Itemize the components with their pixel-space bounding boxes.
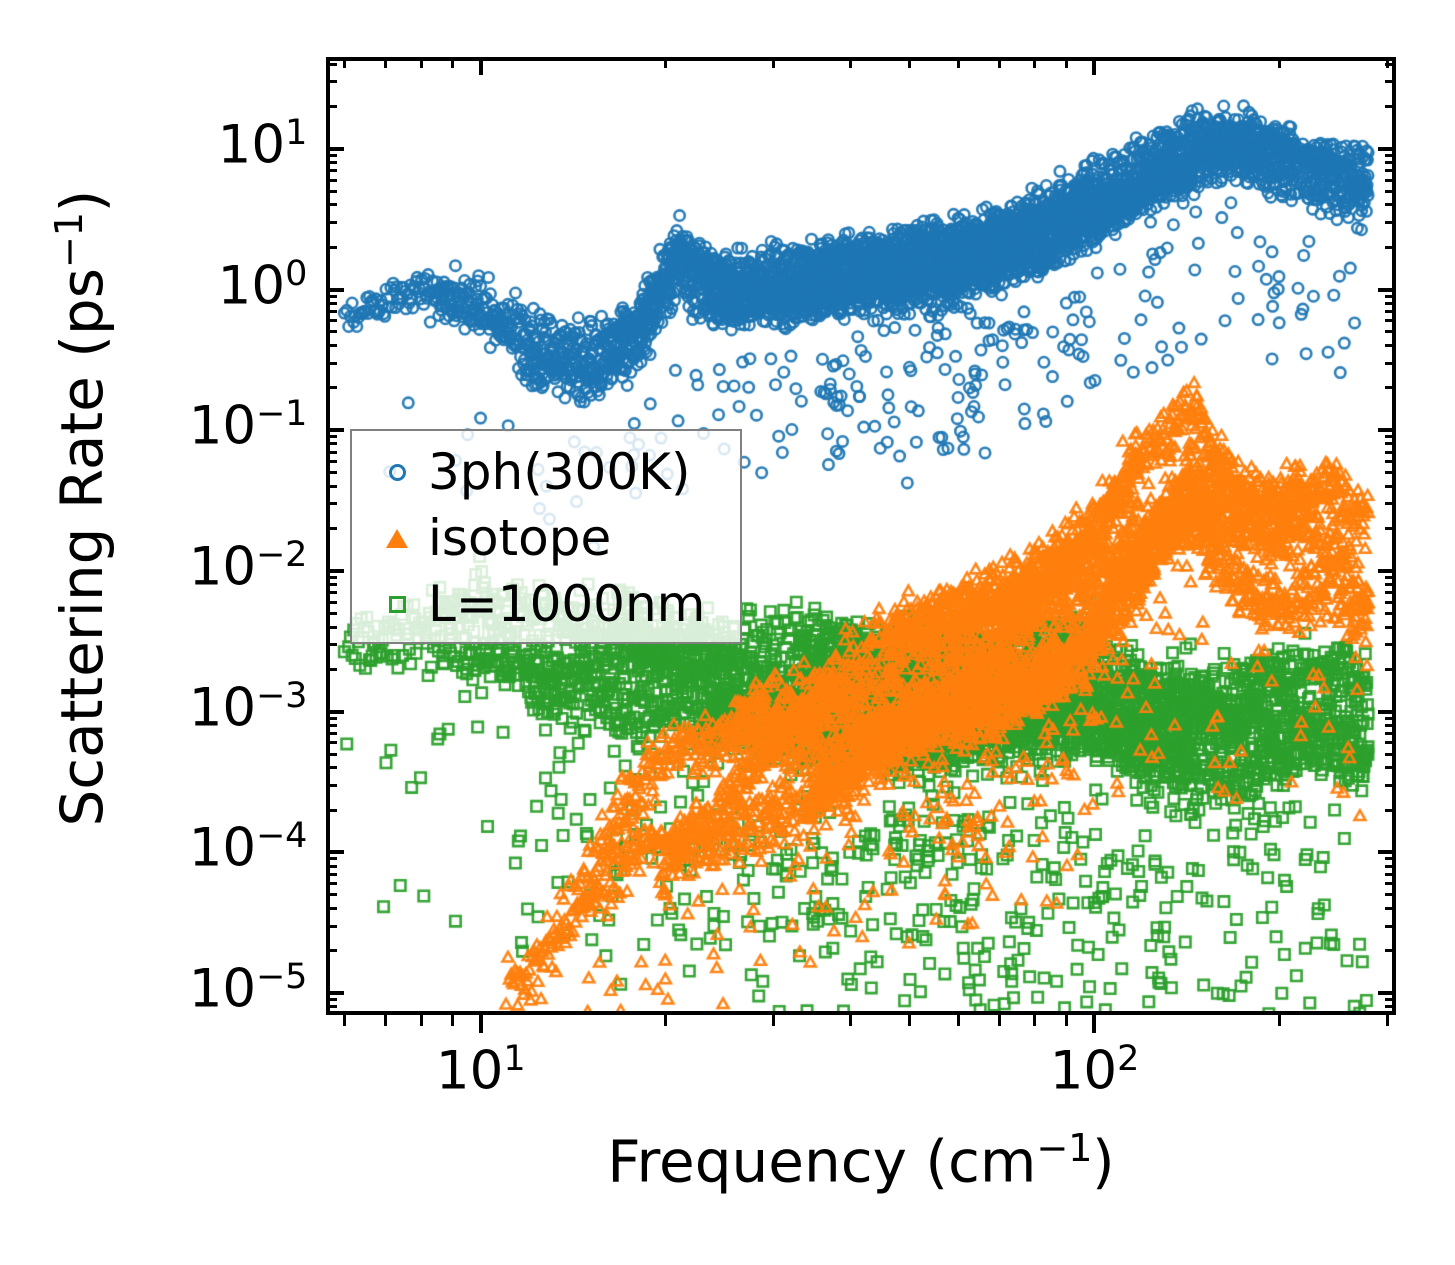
- y-minor-tick-right: [1385, 442, 1396, 445]
- legend-marker-square-icon: [366, 596, 428, 613]
- legend-item-isotope[interactable]: isotope: [352, 505, 740, 571]
- y-minor-tick-right: [1385, 998, 1396, 1001]
- y-minor-tick-right: [1385, 893, 1396, 896]
- y-minor-tick: [326, 203, 337, 206]
- y-minor-tick-right: [1385, 246, 1396, 249]
- x-minor-tick-top: [772, 57, 775, 68]
- y-minor-tick: [326, 741, 337, 744]
- y-minor-tick-right: [1385, 907, 1396, 910]
- x-minor-tick: [998, 1015, 1001, 1026]
- x-minor-tick-top: [1278, 57, 1281, 68]
- y-minor-tick: [326, 1005, 337, 1008]
- legend-box: 3ph(300K) isotope L=1000nm: [350, 429, 742, 644]
- y-minor-tick-right: [1385, 310, 1396, 313]
- x-axis-title-text: Frequency (cm: [607, 1127, 1036, 1195]
- y-tick-label: 10−3: [189, 679, 307, 735]
- x-minor-tick-top: [664, 57, 667, 68]
- y-major-tick: [326, 710, 344, 714]
- y-minor-tick: [326, 612, 337, 615]
- y-minor-tick-right: [1385, 583, 1396, 586]
- y-minor-tick: [326, 998, 337, 1001]
- x-minor-tick-top: [451, 57, 454, 68]
- y-minor-tick: [326, 591, 337, 594]
- y-minor-tick-right: [1385, 753, 1396, 756]
- y-minor-tick-right: [1385, 601, 1396, 604]
- x-minor-tick-top: [849, 57, 852, 68]
- x-major-tick-top: [479, 57, 483, 75]
- y-tick-mantissa: 10: [189, 396, 256, 457]
- y-axis-title-exponent: −1: [47, 212, 92, 268]
- scatter-plot-figure: Scattering Rate (ps−1) Frequency (cm−1) …: [0, 0, 1455, 1265]
- y-minor-tick-right: [1385, 612, 1396, 615]
- y-tick-mantissa: 10: [189, 959, 256, 1020]
- x-minor-tick: [908, 1015, 911, 1026]
- x-tick-mantissa: 10: [1050, 1041, 1117, 1102]
- y-tick-label: 101: [218, 116, 307, 172]
- x-minor-tick: [420, 1015, 423, 1026]
- y-tick-mantissa: 10: [189, 537, 256, 598]
- x-axis-title: Frequency (cm−1): [326, 1130, 1396, 1190]
- y-minor-tick: [326, 319, 337, 322]
- x-axis-title-exponent: −1: [1036, 1126, 1092, 1171]
- y-minor-tick-right: [1385, 295, 1396, 298]
- y-minor-tick: [326, 717, 337, 720]
- y-major-tick-right: [1378, 147, 1396, 151]
- y-tick-mantissa: 10: [218, 115, 285, 176]
- y-minor-tick: [326, 221, 337, 224]
- y-minor-tick: [326, 344, 337, 347]
- y-tick-exponent: −3: [256, 676, 307, 716]
- y-minor-tick-right: [1385, 221, 1396, 224]
- y-tick-label: 10−5: [189, 960, 307, 1016]
- y-minor-tick-right: [1385, 784, 1396, 787]
- y-minor-tick: [326, 626, 337, 629]
- x-minor-tick-top: [384, 57, 387, 68]
- y-major-tick: [326, 288, 344, 292]
- y-minor-tick-right: [1385, 169, 1396, 172]
- y-minor-tick: [326, 310, 337, 313]
- y-major-tick: [326, 850, 344, 854]
- y-minor-tick-right: [1385, 724, 1396, 727]
- y-minor-tick: [326, 527, 337, 530]
- y-minor-tick-right: [1385, 809, 1396, 812]
- y-minor-tick: [326, 873, 337, 876]
- y-minor-tick: [326, 865, 337, 868]
- y-minor-tick-right: [1385, 319, 1396, 322]
- y-tick-label: 10−1: [189, 397, 307, 453]
- y-minor-tick-right: [1385, 330, 1396, 333]
- legend-label-boundary: L=1000nm: [428, 579, 705, 629]
- y-tick-mantissa: 10: [189, 818, 256, 879]
- x-minor-tick-top: [1065, 57, 1068, 68]
- y-minor-tick-right: [1385, 80, 1396, 83]
- x-tick-exponent: 2: [1117, 1039, 1139, 1079]
- y-minor-tick-right: [1385, 179, 1396, 182]
- y-minor-tick-right: [1385, 502, 1396, 505]
- y-minor-tick: [326, 161, 337, 164]
- y-minor-tick-right: [1385, 576, 1396, 579]
- y-minor-tick: [326, 179, 337, 182]
- y-minor-tick: [326, 451, 337, 454]
- y-minor-tick-right: [1385, 626, 1396, 629]
- y-minor-tick: [326, 190, 337, 193]
- y-minor-tick-right: [1385, 732, 1396, 735]
- x-minor-tick: [451, 1015, 454, 1026]
- y-major-tick-right: [1378, 569, 1396, 573]
- legend-marker-circle-icon: [366, 464, 428, 481]
- y-minor-tick: [326, 949, 337, 952]
- y-minor-tick-right: [1385, 435, 1396, 438]
- y-tick-label: 10−4: [189, 819, 307, 875]
- y-tick-exponent: −2: [256, 535, 307, 575]
- y-minor-tick-right: [1385, 161, 1396, 164]
- y-minor-tick: [326, 576, 337, 579]
- y-minor-tick-right: [1385, 882, 1396, 885]
- x-major-tick: [479, 1015, 483, 1033]
- y-minor-tick-right: [1385, 190, 1396, 193]
- y-minor-tick: [326, 435, 337, 438]
- y-minor-tick-right: [1385, 344, 1396, 347]
- y-minor-tick: [326, 907, 337, 910]
- y-minor-tick-right: [1385, 527, 1396, 530]
- y-minor-tick: [326, 386, 337, 389]
- y-minor-tick: [326, 485, 337, 488]
- y-major-tick-right: [1378, 850, 1396, 854]
- y-minor-tick-right: [1385, 865, 1396, 868]
- y-minor-tick-right: [1385, 302, 1396, 305]
- y-minor-tick: [326, 246, 337, 249]
- y-minor-tick-right: [1385, 485, 1396, 488]
- x-minor-tick-top: [420, 57, 423, 68]
- y-minor-tick: [326, 893, 337, 896]
- y-axis-title: Scattering Rate (ps−1): [51, 29, 111, 987]
- x-axis-title-tail: ): [1092, 1127, 1115, 1195]
- y-minor-tick: [326, 732, 337, 735]
- y-minor-tick-right: [1385, 668, 1396, 671]
- y-minor-tick: [326, 809, 337, 812]
- legend-item-3ph[interactable]: 3ph(300K): [352, 439, 740, 505]
- x-minor-tick: [849, 1015, 852, 1026]
- y-tick-exponent: 1: [285, 113, 307, 153]
- y-minor-tick-right: [1385, 741, 1396, 744]
- x-minor-tick: [343, 1015, 346, 1026]
- y-minor-tick: [326, 63, 337, 66]
- y-minor-tick: [326, 105, 337, 108]
- y-minor-tick-right: [1385, 154, 1396, 157]
- y-minor-tick-right: [1385, 460, 1396, 463]
- x-major-tick-top: [1092, 57, 1096, 75]
- x-minor-tick-top: [343, 57, 346, 68]
- y-minor-tick: [326, 784, 337, 787]
- y-axis-title-tail: ): [48, 190, 116, 213]
- y-minor-tick-right: [1385, 717, 1396, 720]
- x-minor-tick: [1065, 1015, 1068, 1026]
- x-minor-tick: [664, 1015, 667, 1026]
- y-minor-tick-right: [1385, 203, 1396, 206]
- y-minor-tick-right: [1385, 925, 1396, 928]
- y-tick-exponent: −5: [256, 957, 307, 997]
- y-minor-tick: [326, 169, 337, 172]
- y-minor-tick: [326, 362, 337, 365]
- y-major-tick: [326, 569, 344, 573]
- y-minor-tick-right: [1385, 386, 1396, 389]
- y-minor-tick: [326, 882, 337, 885]
- y-minor-tick: [326, 460, 337, 463]
- x-minor-tick: [957, 1015, 960, 1026]
- y-minor-tick-right: [1385, 105, 1396, 108]
- y-tick-exponent: 0: [285, 254, 307, 294]
- y-tick-label: 10−2: [189, 538, 307, 594]
- y-minor-tick-right: [1385, 451, 1396, 454]
- x-minor-tick-top: [998, 57, 1001, 68]
- y-minor-tick: [326, 724, 337, 727]
- legend-marker-triangle-icon: [366, 529, 428, 548]
- x-minor-tick-top: [957, 57, 960, 68]
- x-tick-label: 102: [1050, 1042, 1139, 1098]
- y-minor-tick: [326, 154, 337, 157]
- y-minor-tick: [326, 766, 337, 769]
- x-tick-exponent: 1: [503, 1039, 525, 1079]
- x-tick-label: 101: [436, 1042, 525, 1098]
- y-minor-tick-right: [1385, 643, 1396, 646]
- y-minor-tick: [326, 668, 337, 671]
- y-minor-tick-right: [1385, 873, 1396, 876]
- x-minor-tick: [772, 1015, 775, 1026]
- y-tick-label: 100: [218, 257, 307, 313]
- y-minor-tick: [326, 442, 337, 445]
- y-minor-tick: [326, 302, 337, 305]
- y-minor-tick: [326, 80, 337, 83]
- x-minor-tick: [1033, 1015, 1036, 1026]
- y-major-tick: [326, 428, 344, 432]
- x-tick-mantissa: 10: [436, 1041, 503, 1102]
- y-tick-exponent: −4: [256, 816, 307, 856]
- legend-label-3ph: 3ph(300K): [428, 447, 690, 497]
- y-minor-tick: [326, 583, 337, 586]
- legend-item-boundary[interactable]: L=1000nm: [352, 571, 740, 637]
- y-minor-tick: [326, 471, 337, 474]
- x-minor-tick-top: [908, 57, 911, 68]
- y-minor-tick: [326, 295, 337, 298]
- y-minor-tick-right: [1385, 362, 1396, 365]
- y-minor-tick-right: [1385, 1005, 1396, 1008]
- y-major-tick-right: [1378, 288, 1396, 292]
- y-minor-tick: [326, 857, 337, 860]
- y-tick-mantissa: 10: [189, 677, 256, 738]
- y-major-tick-right: [1378, 428, 1396, 432]
- legend-label-isotope: isotope: [428, 513, 611, 563]
- x-minor-tick-top: [1386, 57, 1389, 68]
- y-minor-tick-right: [1385, 857, 1396, 860]
- x-major-tick: [1092, 1015, 1096, 1033]
- y-minor-tick: [326, 601, 337, 604]
- y-major-tick: [326, 991, 344, 995]
- x-minor-tick: [384, 1015, 387, 1026]
- y-minor-tick-right: [1385, 766, 1396, 769]
- x-minor-tick: [1278, 1015, 1281, 1026]
- y-minor-tick-right: [1385, 471, 1396, 474]
- y-major-tick-right: [1378, 991, 1396, 995]
- y-major-tick-right: [1378, 710, 1396, 714]
- y-major-tick: [326, 147, 344, 151]
- y-minor-tick: [326, 753, 337, 756]
- y-minor-tick: [326, 925, 337, 928]
- y-minor-tick: [326, 502, 337, 505]
- y-minor-tick: [326, 330, 337, 333]
- y-axis-title-text: Scattering Rate (ps: [48, 268, 116, 826]
- y-minor-tick-right: [1385, 591, 1396, 594]
- x-minor-tick: [1386, 1015, 1389, 1026]
- y-minor-tick-right: [1385, 949, 1396, 952]
- y-tick-exponent: −1: [256, 394, 307, 434]
- y-tick-mantissa: 10: [218, 255, 285, 316]
- y-minor-tick: [326, 643, 337, 646]
- x-minor-tick-top: [1033, 57, 1036, 68]
